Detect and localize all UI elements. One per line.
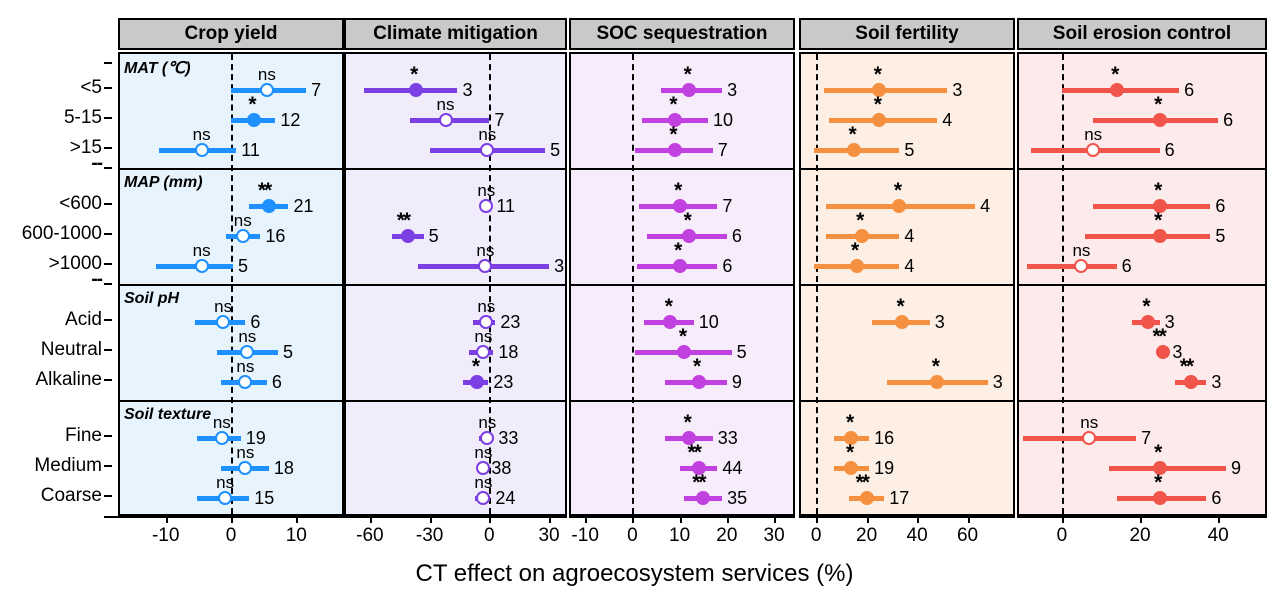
significance-label: * [248,94,254,115]
sample-size-label: 6 [722,257,732,275]
y-axis-tick [104,167,112,169]
sample-size-label: 7 [722,197,732,215]
significance-label: ns [478,126,496,143]
significance-label: ns [474,444,492,461]
significance-label: ns [214,298,232,315]
x-axis-tick-label: -10 [152,526,179,545]
group-separator-dashes: -- [91,270,102,289]
y-axis-tick [104,203,112,205]
x-axis-tick-label: 30 [538,526,559,545]
data-point-marker[interactable] [195,143,209,157]
confidence-interval-bar [1023,436,1136,441]
row-label: 600-1000 [22,224,102,243]
row-label: Alkaline [35,370,102,389]
row-label: Medium [34,456,102,475]
significance-label: * [846,412,852,433]
zero-reference-line [1062,54,1064,514]
confidence-interval-bar [1109,466,1226,471]
significance-label: * [472,356,478,377]
sample-size-label: 3 [1165,313,1175,331]
confidence-interval-bar [1093,204,1210,209]
zero-reference-line [632,54,634,514]
sample-size-label: 35 [727,489,747,507]
sample-size-label: 4 [980,197,990,215]
panel-title: Crop yield [118,18,344,50]
significance-label: ns [258,66,276,83]
sample-size-label: 7 [1141,429,1151,447]
group-block [1019,402,1265,518]
sample-size-label: 6 [272,373,282,391]
significance-label: ** [1152,326,1164,347]
x-axis-tick-label: -10 [571,526,598,545]
sample-size-label: 5 [283,343,293,361]
significance-label: ns [1080,414,1098,431]
sample-size-label: 33 [718,429,738,447]
sample-size-label: 9 [1231,459,1241,477]
x-axis-title: CT effect on agroecosystem services (%) [0,562,1269,586]
group-block [801,286,1013,402]
group-title: MAP (mm) [124,174,203,192]
significance-label: ns [213,414,231,431]
sample-size-label: 7 [311,81,321,99]
row-label: Neutral [41,340,102,359]
panel-soc-sequestration: SOC sequestration3*10*7*7*6*6*10*5*9*33*… [569,18,795,516]
significance-label: * [669,94,675,115]
plot-area: 3*10*7*7*6*6*10*5*9*33*44**35** [569,52,795,516]
significance-label: ns [216,474,234,491]
sample-size-label: 33 [498,429,518,447]
sample-size-label: 5 [1215,227,1225,245]
significance-label: * [856,210,862,231]
plot-area: 6*6*6ns6*5*6ns3*3**3**7ns9*6* [1017,52,1267,516]
sample-size-label: 5 [904,141,914,159]
sample-size-label: 15 [254,489,274,507]
significance-label: ns [1084,126,1102,143]
sample-size-label: 4 [904,227,914,245]
x-axis-line [1017,516,1267,518]
significance-label: ns [193,242,211,259]
significance-label: * [684,412,690,433]
panel-title: Soil erosion control [1017,18,1267,50]
x-axis-line [104,516,344,518]
significance-label: * [1154,472,1160,493]
significance-label: ** [856,472,868,493]
forest-plot-figure: <55-15>15--<600600-1000>1000--AcidNeutra… [0,0,1269,602]
y-axis-tick [104,349,112,351]
panel-title: SOC sequestration [569,18,795,50]
row-label: <600 [59,194,102,213]
significance-label: ns [477,298,495,315]
group-title: Soil texture [124,406,211,424]
sample-size-label: 6 [1184,81,1194,99]
row-label: Fine [65,426,102,445]
significance-label: * [1154,442,1160,463]
sample-size-label: 4 [904,257,914,275]
data-point-marker[interactable] [215,431,229,445]
x-axis-tick-label: 0 [484,526,495,545]
zero-reference-line [816,54,818,514]
sample-size-label: 6 [1122,257,1132,275]
row-label: 5-15 [64,108,102,127]
x-axis-tick-label: 30 [764,526,785,545]
group-block [1019,170,1265,286]
row-label: Coarse [41,486,102,505]
significance-label: ** [397,210,409,231]
sample-size-label: 6 [1211,489,1221,507]
y-axis-tick [104,283,112,285]
y-axis-tick [104,495,112,497]
zero-reference-line [231,54,233,514]
significance-label: ns [478,414,496,431]
y-axis-tick [104,263,112,265]
panel-soil-fertility: Soil fertility3*4*5*4*4*4*3*3*16*19*17** [799,18,1015,516]
sample-size-label: 4 [942,111,952,129]
panel-title: Climate mitigation [344,18,567,50]
significance-label: * [894,180,900,201]
significance-label: * [674,180,680,201]
y-axis-tick [104,117,112,119]
significance-label: * [932,356,938,377]
sample-size-label: 3 [1211,373,1221,391]
significance-label: ns [238,328,256,345]
y-axis-tick [104,233,112,235]
significance-label: * [410,64,416,85]
sample-size-label: 18 [274,459,294,477]
row-label: Acid [65,310,102,329]
y-axis-tick [104,62,112,64]
sample-size-label: 16 [874,429,894,447]
significance-label: * [684,64,690,85]
significance-label: * [874,64,880,85]
confidence-interval-bar [1027,264,1117,269]
sample-size-label: 24 [495,489,515,507]
significance-label: ns [476,242,494,259]
sample-size-label: 9 [732,373,742,391]
significance-label: * [684,210,690,231]
x-axis-tick-label: 0 [627,526,638,545]
significance-label: ** [692,472,704,493]
significance-label: * [665,296,671,317]
sample-size-label: 6 [1165,141,1175,159]
x-axis-tick-label: 0 [811,526,822,545]
sample-size-label: 16 [265,227,285,245]
sample-size-label: 21 [293,197,313,215]
significance-label: ** [258,180,270,201]
row-label-column: <55-15>15--<600600-1000>1000--AcidNeutra… [0,0,112,602]
sample-size-label: 6 [1223,111,1233,129]
significance-label: ns [1072,242,1090,259]
confidence-interval-bar [1085,234,1210,239]
plot-area: 3*4*5*4*4*4*3*3*16*19*17** [799,52,1015,516]
sample-size-label: 10 [713,111,733,129]
sample-size-label: 5 [737,343,747,361]
significance-label: ** [688,442,700,463]
sample-size-label: 5 [429,227,439,245]
sample-size-label: 17 [889,489,909,507]
sample-size-label: 23 [500,313,520,331]
sample-size-label: 11 [496,197,515,215]
x-axis-tick-label: 60 [957,526,978,545]
group-block [346,170,565,286]
x-axis-tick-label: 10 [669,526,690,545]
significance-label: ns [474,474,492,491]
significance-label: ns [234,212,252,229]
significance-label: ns [193,126,211,143]
significance-label: * [849,124,855,145]
sample-size-label: 3 [462,81,472,99]
panel-climate-mitigation: Climate mitigation3*7ns5ns11ns5**3ns23ns… [344,18,567,516]
sample-size-label: 12 [280,111,300,129]
significance-label: ns [437,96,455,113]
x-axis-tick-label: -30 [416,526,443,545]
y-axis-tick [104,87,112,89]
sample-size-label: 5 [238,257,248,275]
x-axis-line [569,516,795,518]
sample-size-label: 6 [732,227,742,245]
significance-label: * [1154,94,1160,115]
x-axis-tick-label: 0 [1057,526,1068,545]
sample-size-label: 18 [498,343,518,361]
significance-label: ** [1180,356,1192,377]
significance-label: * [1142,296,1148,317]
panel-crop-yield: Crop yieldMAT (℃)MAP (mm)Soil pHSoil tex… [118,18,344,516]
group-separator-dashes: -- [91,154,102,173]
x-axis-tick-label: 40 [907,526,928,545]
sample-size-label: 3 [952,81,962,99]
sample-size-label: 6 [1215,197,1225,215]
significance-label: * [851,240,857,261]
sample-size-label: 10 [699,313,719,331]
plot-area: 3*7ns5ns11ns5**3ns23ns18ns23*33ns38ns24n… [344,52,567,516]
x-axis-tick-label: 10 [286,526,307,545]
sample-size-label: 3 [727,81,737,99]
significance-label: * [669,124,675,145]
significance-label: * [674,240,680,261]
sample-size-label: 7 [718,141,728,159]
x-axis-tick-label: 0 [226,526,237,545]
significance-label: ns [236,358,254,375]
y-axis-tick [104,147,112,149]
group-block [571,54,793,170]
group-block [346,286,565,402]
significance-label: * [679,326,685,347]
y-axis-tick [104,465,112,467]
x-axis-tick-label: 20 [716,526,737,545]
y-axis-tick [104,379,112,381]
data-point-marker[interactable] [439,113,453,127]
panel-title: Soil fertility [799,18,1015,50]
x-axis-line [344,516,567,518]
significance-label: * [1111,64,1117,85]
sample-size-label: 3 [993,373,1003,391]
data-point-marker[interactable] [236,229,250,243]
group-title: Soil pH [124,290,179,308]
x-axis-line [799,516,1015,518]
group-title: MAT (℃) [124,58,191,78]
y-axis-tick [104,319,112,321]
sample-size-label: 23 [493,373,513,391]
group-block [346,402,565,518]
sample-size-label: 5 [550,141,560,159]
group-block [571,402,793,518]
panel-soil-erosion-control: Soil erosion control6*6*6ns6*5*6ns3*3**3… [1017,18,1267,516]
sample-size-label: 3 [935,313,945,331]
y-axis-tick [104,435,112,437]
data-point-marker[interactable] [218,491,232,505]
sample-size-label: 11 [241,141,260,159]
significance-label: * [896,296,902,317]
sample-size-label: 19 [874,459,894,477]
data-point-marker[interactable] [195,259,209,273]
sample-size-label: 3 [554,257,564,275]
significance-label: * [846,442,852,463]
data-point-marker[interactable] [260,83,274,97]
group-block [346,54,565,170]
significance-label: * [1154,180,1160,201]
significance-label: ns [236,444,254,461]
x-axis-tick-label: 20 [1129,526,1150,545]
x-axis-tick-label: -60 [356,526,383,545]
sample-size-label: 38 [491,459,511,477]
plot-area: MAT (℃)MAP (mm)Soil pHSoil texture7ns12*… [118,52,344,516]
significance-label: ns [474,328,492,345]
significance-label: * [1154,210,1160,231]
x-axis-tick-label: 20 [856,526,877,545]
significance-label: * [874,94,880,115]
sample-size-label: 44 [722,459,742,477]
significance-label: * [693,356,699,377]
significance-label: ns [477,182,495,199]
x-axis-tick-label: 40 [1208,526,1229,545]
row-label: <5 [80,78,102,97]
